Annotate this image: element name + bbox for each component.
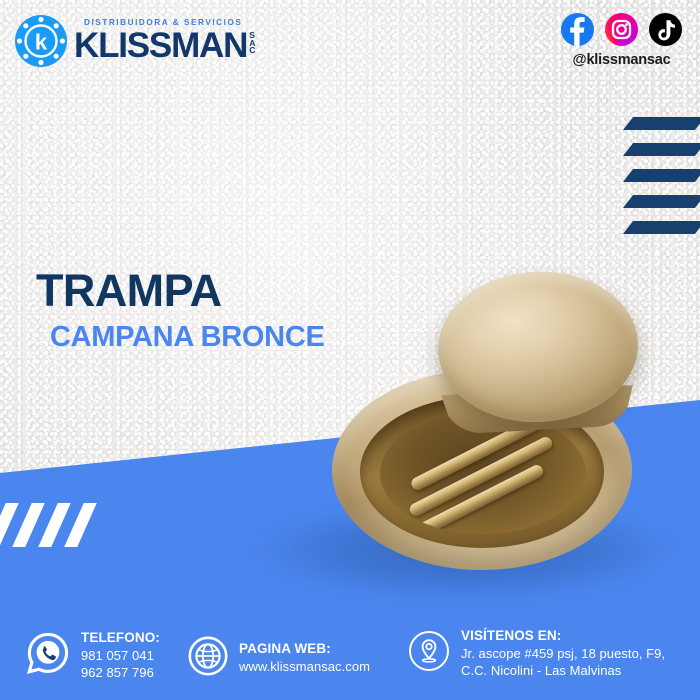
footer-web[interactable]: PAGINA WEB: www.klissmansac.com <box>188 636 370 681</box>
footer-location-text: VISÍTENOS EN: Jr. ascope #459 psj, 18 pu… <box>461 628 665 679</box>
klissman-badge-icon: k <box>12 12 70 70</box>
header: k DISTRIBUIDORA & SERVICIOS KLISSMAN S A… <box>0 0 700 95</box>
instagram-icon[interactable] <box>605 13 638 46</box>
footer-location[interactable]: VISÍTENOS EN: Jr. ascope #459 psj, 18 pu… <box>408 628 665 679</box>
footer-phone-title: TELEFONO: <box>81 630 160 647</box>
brand-suffix: S A C <box>249 32 255 55</box>
brand-tagline: DISTRIBUIDORA & SERVICIOS <box>84 18 242 27</box>
globe-icon <box>188 636 228 681</box>
footer-phone[interactable]: TELEFONO: 981 057 041 962 857 796 <box>26 630 160 681</box>
map-pin-icon <box>408 630 450 677</box>
white-stripe <box>64 503 97 547</box>
footer-web-url[interactable]: www.klissmansac.com <box>239 658 370 675</box>
navy-stripe <box>623 221 700 234</box>
footer-address-line-2: C.C. Nicolini - Las Malvinas <box>461 662 665 679</box>
footer-location-title: VISÍTENOS EN: <box>461 628 665 645</box>
footer-phone-text: TELEFONO: 981 057 041 962 857 796 <box>81 630 160 681</box>
svg-text:k: k <box>35 30 48 55</box>
decorative-white-stripes <box>0 503 130 553</box>
brand-text-block: DISTRIBUIDORA & SERVICIOS KLISSMAN S A C <box>74 19 256 63</box>
navy-stripe <box>623 117 700 130</box>
facebook-icon[interactable] <box>561 13 594 46</box>
product-title-main: TRAMPA <box>36 268 325 313</box>
product-image <box>318 272 648 577</box>
footer-address-line-1: Jr. ascope #459 psj, 18 puesto, F9, <box>461 645 665 662</box>
decorative-navy-stripes <box>630 117 700 257</box>
product-title-sub: CAMPANA BRONCE <box>50 323 325 352</box>
footer-web-title: PAGINA WEB: <box>239 641 370 658</box>
navy-stripe <box>623 195 700 208</box>
navy-stripe <box>623 169 700 182</box>
brand-name: KLISSMAN <box>74 29 247 63</box>
footer-phone-number-1: 981 057 041 <box>81 647 160 664</box>
whatsapp-phone-icon <box>26 631 70 680</box>
footer-web-text: PAGINA WEB: www.klissmansac.com <box>239 641 370 675</box>
brand-logo[interactable]: k DISTRIBUIDORA & SERVICIOS KLISSMAN S A… <box>12 12 256 70</box>
social-icons <box>561 13 682 46</box>
social-block: @klissmansac <box>561 13 682 68</box>
brand-suffix-c: C <box>249 47 255 55</box>
footer-phone-number-2: 962 857 796 <box>81 664 160 681</box>
navy-stripe <box>623 143 700 156</box>
product-poster: k DISTRIBUIDORA & SERVICIOS KLISSMAN S A… <box>0 0 700 700</box>
headline-block: TRAMPA CAMPANA BRONCE <box>36 268 325 352</box>
social-handle: @klissmansac <box>561 52 682 68</box>
footer: TELEFONO: 981 057 041 962 857 796 PAGINA… <box>0 612 700 700</box>
tiktok-icon[interactable] <box>649 13 682 46</box>
